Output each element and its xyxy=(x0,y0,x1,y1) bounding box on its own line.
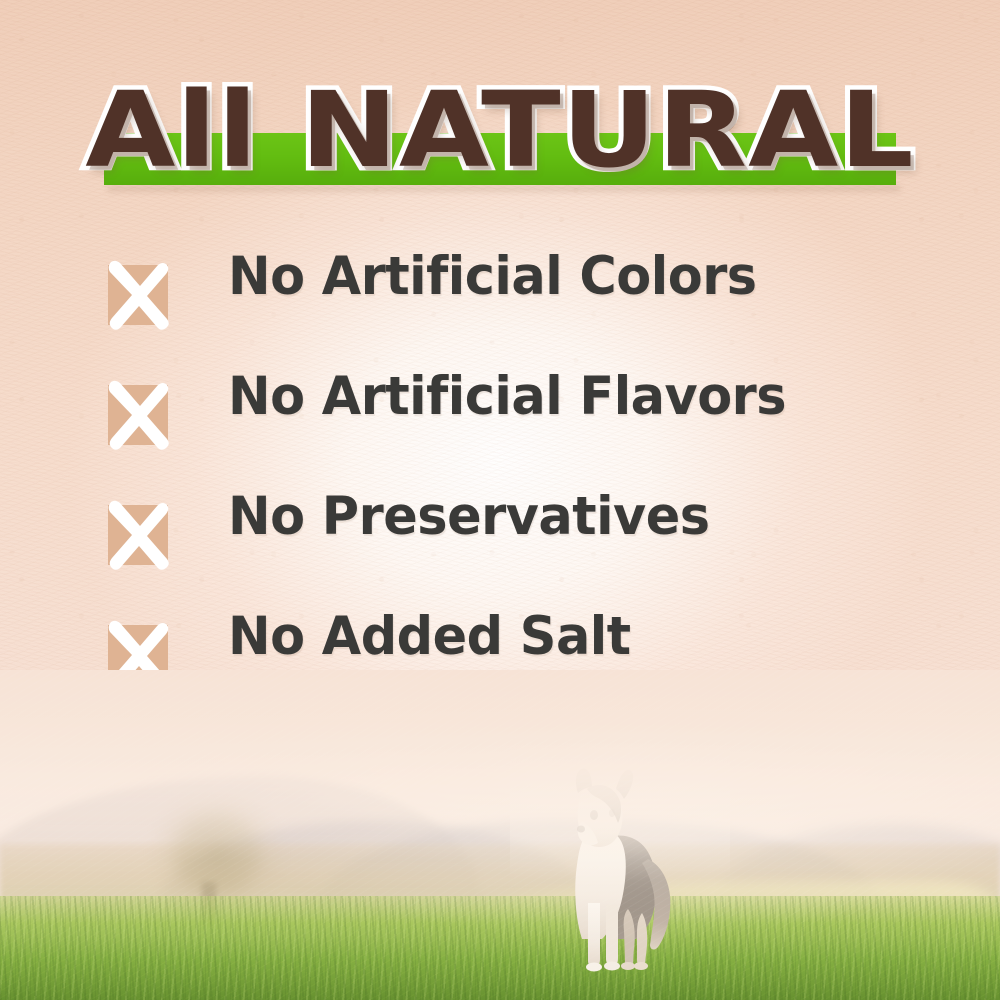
claim-label: No Artificial Flavors xyxy=(228,370,786,423)
claim-row: No Artificial Flavors xyxy=(108,382,928,502)
claim-label: No Preservatives xyxy=(228,490,710,543)
x-mark-icon xyxy=(101,376,175,454)
landscape-photo xyxy=(0,670,1000,1000)
claim-checkbox xyxy=(108,265,168,325)
grass-texture xyxy=(0,896,1000,1000)
product-claims-graphic: All NATURAL No Artificial Colors No Arti… xyxy=(0,0,1000,1000)
claim-checkbox xyxy=(108,505,168,565)
claim-label: No Artificial Colors xyxy=(228,250,757,303)
page-title: All NATURAL xyxy=(0,78,1000,182)
claim-row: No Preservatives xyxy=(108,502,928,622)
claim-row: No Artificial Colors xyxy=(108,262,928,382)
x-mark-icon xyxy=(101,496,175,574)
dog-silhouette xyxy=(530,763,700,978)
claim-label: No Added Salt xyxy=(228,610,631,663)
x-mark-icon xyxy=(101,256,175,334)
claim-checkbox xyxy=(108,385,168,445)
title-banner: All NATURAL xyxy=(0,70,1000,195)
border-collie-dog xyxy=(530,763,700,978)
